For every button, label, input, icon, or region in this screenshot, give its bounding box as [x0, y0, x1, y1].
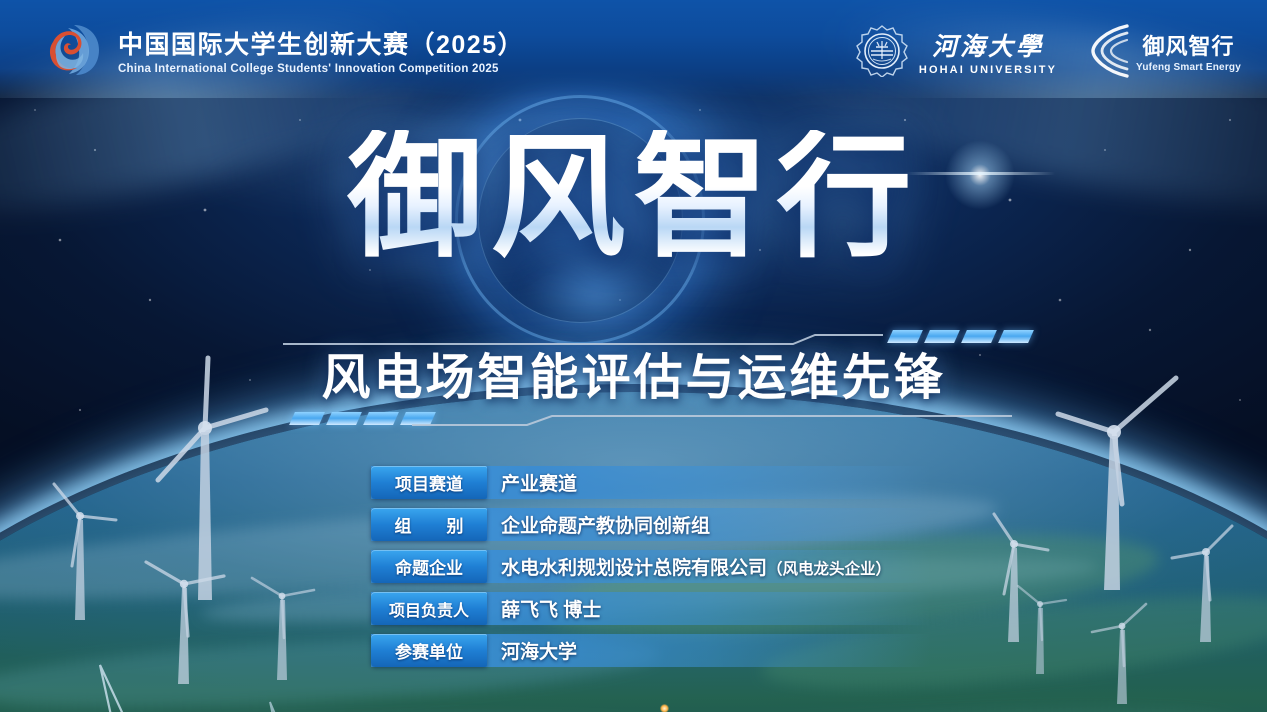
chevron-accent — [998, 330, 1034, 343]
chevron-accent — [924, 330, 960, 343]
project-info-table: 项目赛道 产业赛道 组 别 企业命题产教协同创新组 命题企业 水电水利规划设计总… — [371, 466, 931, 667]
info-value-institution: 河海大学 — [501, 637, 577, 664]
info-value-group: 企业命题产教协同创新组 — [501, 511, 710, 538]
info-label-company: 命题企业 — [371, 550, 487, 583]
chevron-accent — [363, 412, 399, 425]
wind-turbine — [1088, 598, 1156, 708]
wind-turbine — [1010, 578, 1070, 678]
table-row: 项目赛道 产业赛道 — [371, 466, 931, 499]
concentric-arcs-icon — [1083, 24, 1129, 78]
table-row: 参赛单位 河海大学 — [371, 634, 931, 667]
subtitle-top-accent — [0, 326, 1267, 348]
swirl-logo-icon — [44, 22, 104, 78]
info-value-company: 水电水利规划设计总院有限公司（风电龙头企业） — [501, 553, 891, 580]
info-value-text: 薛飞飞 博士 — [501, 600, 601, 621]
yufeng-name-cn: 御风智行 — [1143, 29, 1235, 61]
competition-title-cn: 中国国际大学生创新大赛（2025） — [118, 25, 524, 61]
hohai-name-en: HOHAI UNIVERSITY — [919, 64, 1057, 76]
yufeng-sponsor-logo: 御风智行 Yufeng Smart Energy — [1083, 24, 1241, 78]
hohai-seal-icon — [856, 25, 908, 77]
chevron-group-top — [890, 330, 1031, 343]
hohai-university-logo: 河海大學 HOHAI UNIVERSITY — [856, 25, 1057, 77]
wind-turbine — [42, 478, 120, 628]
hohai-name-cn: 河海大學 — [932, 27, 1044, 63]
subtitle-block: 风电场智能评估与运维先锋 — [0, 326, 1267, 430]
table-row: 组 别 企业命题产教协同创新组 — [371, 508, 931, 541]
wind-turbine — [246, 566, 318, 686]
chevron-accent — [326, 412, 362, 425]
tech-line-bottom — [412, 414, 1012, 428]
info-value-text: 产业赛道 — [501, 474, 577, 495]
info-value-leader: 薛飞飞 博士 — [501, 595, 601, 622]
info-value-text: 水电水利规划设计总院有限公司 — [501, 558, 767, 579]
chevron-accent — [289, 412, 325, 425]
chevron-accent — [887, 330, 923, 343]
info-value-text: 企业命题产教协同创新组 — [501, 516, 710, 537]
competition-title-en: China International College Students' In… — [118, 63, 524, 75]
chevron-accent — [961, 330, 997, 343]
slide-header: 中国国际大学生创新大赛（2025） China International Co… — [0, 0, 1267, 98]
subtitle: 风电场智能评估与运维先锋 — [0, 350, 1267, 406]
info-label-track: 项目赛道 — [371, 466, 487, 499]
info-label-institution: 参赛单位 — [371, 634, 487, 667]
table-row: 项目负责人 薛飞飞 博士 — [371, 592, 931, 625]
info-value-track: 产业赛道 — [501, 469, 577, 496]
tech-line-top — [283, 333, 883, 347]
partner-logos: 河海大學 HOHAI UNIVERSITY 御风智行 Yufeng Smart … — [856, 24, 1241, 78]
info-value-text: 河海大学 — [501, 642, 577, 663]
wind-turbine — [1168, 518, 1244, 648]
table-row: 命题企业 水电水利规划设计总院有限公司（风电龙头企业） — [371, 550, 931, 583]
main-title: 御风智行 — [0, 130, 1267, 265]
competition-branding: 中国国际大学生创新大赛（2025） China International Co… — [44, 22, 524, 78]
info-label-leader: 项目负责人 — [371, 592, 487, 625]
subtitle-bottom-accent — [0, 408, 1267, 430]
info-value-note: （风电龙头企业） — [767, 561, 891, 578]
lightning-bolt — [240, 692, 420, 712]
wind-turbine — [142, 548, 228, 690]
presentation-slide: 中国国际大学生创新大赛（2025） China International Co… — [0, 0, 1267, 712]
yufeng-name-en: Yufeng Smart Energy — [1136, 62, 1241, 73]
info-label-group: 组 别 — [371, 508, 487, 541]
